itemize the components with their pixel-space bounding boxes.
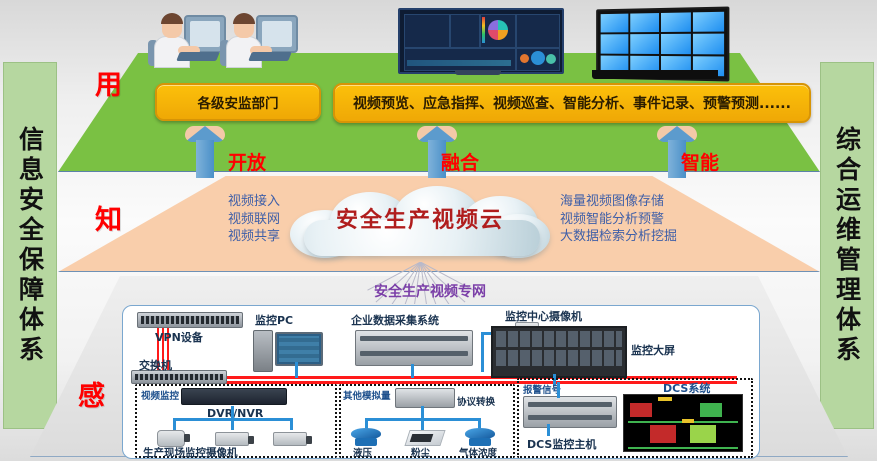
- monitoring-pc-label: 监控PC: [255, 312, 293, 328]
- dcs-host-down-line: [547, 424, 550, 436]
- layer-tag-sense: 感: [78, 374, 105, 413]
- pc-screen-icon: [275, 332, 323, 366]
- pc-connection-line: [295, 362, 298, 378]
- keyboard-icon: [176, 52, 220, 61]
- data-collection-line: [411, 364, 414, 378]
- layer-tag-know: 知: [95, 198, 122, 237]
- vpn-device-icon: [137, 312, 243, 328]
- operators-illustration: [148, 4, 308, 70]
- dcs-host-icon: [523, 396, 617, 428]
- monitor-stand: [455, 70, 501, 75]
- vpn-device-label: VPN设备: [155, 329, 203, 345]
- dcs-host-line: [557, 382, 560, 398]
- camera-drop-line: [481, 332, 484, 372]
- big-screen-icon: [491, 326, 627, 378]
- pc-tower-icon: [253, 330, 273, 372]
- box-camera-icon: [273, 432, 307, 446]
- analog-group-title: 其他模拟量: [343, 388, 391, 402]
- dept-box[interactable]: 各级安监部门: [155, 83, 321, 121]
- analog-sensor-label-3: 气体浓度: [459, 445, 497, 459]
- left-pillar-label: 信息安全保障体系: [18, 126, 43, 366]
- left-pillar-information-security: 信息安全保障体系: [3, 62, 57, 429]
- analog-branch-2: [421, 406, 424, 430]
- cloud-left-capabilities: 视频接入 视频联网 视频共享: [148, 193, 280, 246]
- arrow-open-icon: [185, 126, 225, 178]
- box-camera-icon: [215, 432, 249, 446]
- dcs-host-label: DCS监控主机: [527, 436, 596, 452]
- layer-tag-use: 用: [95, 63, 122, 102]
- site-cameras-label: 生产现场监控摄像机: [143, 445, 238, 459]
- functions-box-label: 视频预览、应急指挥、视频巡查、智能分析、事件记录、预警预测......: [353, 93, 791, 113]
- switch-label: 交换机: [139, 357, 172, 373]
- dust-sensor-icon: [404, 430, 445, 446]
- gas-sensor-icon: [465, 428, 495, 446]
- right-pillar-operations-management: 综合运维管理体系: [820, 62, 874, 429]
- dcs-system-image: [623, 394, 743, 452]
- hair-shape: [161, 13, 183, 24]
- dashboard-screen-image: [398, 8, 564, 74]
- arrow-label-merge: 融合: [441, 148, 479, 175]
- private-network-label: 安全生产视频专网: [320, 281, 540, 301]
- protocol-converter-label: 协议转换: [457, 394, 495, 408]
- operator-person-icon: [220, 10, 294, 70]
- functions-box[interactable]: 视频预览、应急指挥、视频巡查、智能分析、事件记录、预警预测......: [333, 83, 811, 123]
- keyboard-icon: [248, 52, 292, 61]
- infrastructure-panel: VPN设备 交换机 监控PC 企业数据采集系统 监控中心摄像机 监控大屏 视频监…: [122, 305, 760, 459]
- hair-shape: [233, 13, 255, 24]
- dvr-branch-3: [290, 418, 293, 430]
- dvr-branch-2: [231, 406, 234, 430]
- big-screen-label: 监控大屏: [631, 342, 675, 358]
- video-wall-base: [592, 70, 718, 79]
- analog-sensor-label-1: 液压: [353, 445, 372, 459]
- hydraulic-sensor-icon: [351, 428, 381, 446]
- operator-person-icon: [148, 10, 222, 70]
- analog-sensor-label-2: 粉尘: [411, 445, 430, 459]
- data-collection-server-icon: [355, 330, 473, 366]
- dvr-nvr-icon: [181, 388, 287, 405]
- protocol-converter-icon: [395, 388, 455, 408]
- cloud-title: 安全生产视频云: [286, 202, 554, 234]
- alarm-signal-label: 报警信号: [523, 382, 561, 396]
- arrow-label-smart: 智能: [681, 148, 719, 175]
- right-pillar-label: 综合运维管理体系: [835, 126, 860, 366]
- architecture-diagram: 信息安全保障体系 综合运维管理体系 用 知 感: [0, 0, 877, 461]
- cloud-right-capabilities: 海量视频图像存储 视频智能分析预警 大数据检索分析挖掘: [560, 193, 760, 246]
- cloud-shape: 安全生产视频云: [286, 186, 554, 260]
- dept-box-label: 各级安监部门: [198, 92, 279, 112]
- dvr-branch-1: [173, 418, 176, 430]
- video-group-title: 视频监控: [141, 388, 179, 402]
- arrow-label-open: 开放: [228, 148, 266, 175]
- data-collection-label: 企业数据采集系统: [351, 312, 439, 328]
